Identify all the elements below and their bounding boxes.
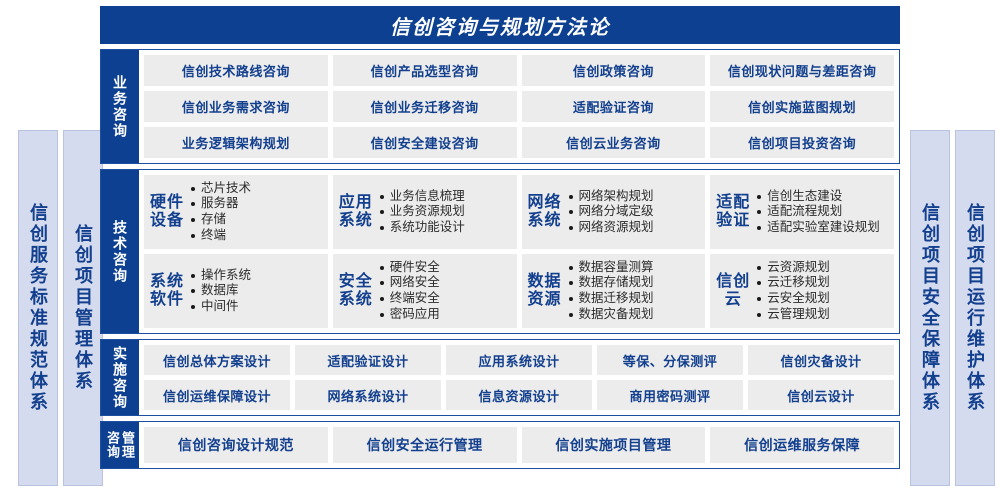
band-technical-body: 硬件设备 芯片技术 服务器 存储 终端 应用系统 业务信息梳理 业务资源规划 — [139, 170, 899, 333]
bullet-item: 业务信息梳理 — [379, 189, 511, 205]
list-item[interactable]: 信创运维保障设计 — [144, 380, 290, 410]
bullet-item: 云管理规划 — [756, 307, 888, 323]
list-item[interactable]: 信创云设计 — [748, 380, 894, 410]
list-item[interactable]: 信创项目投资咨询 — [710, 127, 894, 158]
pillar-service-standard-label: 信创服务标准规范体系 — [29, 203, 47, 413]
table-row: 业务逻辑架构规划 信创安全建设咨询 信创云业务咨询 信创项目投资咨询 — [144, 127, 894, 158]
list-item[interactable]: 商用密码测评 — [597, 380, 743, 410]
list-item[interactable]: 适配验证设计 — [295, 345, 441, 375]
list-item[interactable]: 数据资源 数据容量测算 数据存储规划 数据迁移规划 数据灾备规划 — [522, 254, 706, 328]
list-item[interactable]: 信创灾备设计 — [748, 345, 894, 375]
group-list: 数据容量测算 数据存储规划 数据迁移规划 数据灾备规划 — [568, 260, 700, 323]
list-item[interactable]: 信创业务需求咨询 — [144, 91, 328, 122]
table-row: 信创总体方案设计 适配验证设计 应用系统设计 等保、分保测评 信创灾备设计 — [144, 345, 894, 375]
bullet-item: 数据灾备规划 — [568, 307, 700, 323]
group-list: 硬件安全 网络安全 终端安全 密码应用 — [379, 260, 511, 323]
group-list: 信创生态建设 适配流程规划 适配实验室建设规划 — [756, 189, 888, 236]
bullet-item: 业务资源规划 — [379, 204, 511, 220]
bullet-item: 数据库 — [190, 283, 322, 299]
list-item[interactable]: 网络系统 网络架构规划 网络分域定级 网络资源规划 — [522, 175, 706, 249]
list-item[interactable]: 信创运维服务保障 — [710, 427, 894, 463]
banner: 信创咨询与规划方法论 — [100, 6, 900, 44]
table-row: 信创技术路线咨询 信创产品选型咨询 信创政策咨询 信创现状问题与差距咨询 — [144, 55, 894, 86]
group-list: 网络架构规划 网络分域定级 网络资源规划 — [568, 189, 700, 236]
list-item[interactable]: 信创云 云资源规划 云迁移规划 云安全规划 云管理规划 — [710, 254, 894, 328]
list-item[interactable]: 信息资源设计 — [446, 380, 592, 410]
list-item[interactable]: 信创安全建设咨询 — [333, 127, 517, 158]
bullet-item: 云资源规划 — [756, 260, 888, 276]
band-consulting-management-body: 信创咨询设计规范 信创安全运行管理 信创实施项目管理 信创运维服务保障 — [139, 422, 899, 468]
band-technical-label-text: 技术咨询 — [113, 220, 127, 284]
band-business-label-text: 业务咨询 — [113, 75, 127, 139]
table-row: 硬件设备 芯片技术 服务器 存储 终端 应用系统 业务信息梳理 业务资源规划 — [144, 175, 894, 249]
bullet-item: 操作系统 — [190, 268, 322, 284]
band-implementation-label-text: 实施咨询 — [113, 346, 127, 410]
band-consulting-management-label-col-a: 咨询 — [106, 431, 119, 459]
list-item[interactable]: 适配验证咨询 — [522, 91, 706, 122]
bullet-item: 终端 — [190, 228, 322, 244]
group-title: 适配验证 — [716, 194, 750, 230]
bullet-item: 密码应用 — [379, 307, 511, 323]
pillar-project-security-label: 信创项目安全保障体系 — [921, 203, 939, 413]
band-implementation-label: 实施咨询 — [101, 340, 139, 415]
group-list: 操作系统 数据库 中间件 — [190, 268, 322, 315]
band-business: 业务咨询 信创技术路线咨询 信创产品选型咨询 信创政策咨询 信创现状问题与差距咨… — [100, 49, 900, 164]
table-row: 信创咨询设计规范 信创安全运行管理 信创实施项目管理 信创运维服务保障 — [144, 427, 894, 463]
list-item[interactable]: 安全系统 硬件安全 网络安全 终端安全 密码应用 — [333, 254, 517, 328]
bullet-item: 网络安全 — [379, 275, 511, 291]
pillar-project-security: 信创项目安全保障体系 — [910, 130, 950, 486]
group-title: 网络系统 — [528, 194, 562, 230]
list-item[interactable]: 信创技术路线咨询 — [144, 55, 328, 86]
pillar-project-management: 信创项目管理体系 — [63, 130, 103, 486]
list-item[interactable]: 网络系统设计 — [295, 380, 441, 410]
bullet-item: 终端安全 — [379, 291, 511, 307]
list-item[interactable]: 信创总体方案设计 — [144, 345, 290, 375]
list-item[interactable]: 适配验证 信创生态建设 适配流程规划 适配实验室建设规划 — [710, 175, 894, 249]
list-item[interactable]: 应用系统设计 — [446, 345, 592, 375]
bullet-item: 服务器 — [190, 196, 322, 212]
list-item[interactable]: 信创业务迁移咨询 — [333, 91, 517, 122]
bullet-item: 适配流程规划 — [756, 204, 888, 220]
pillar-project-ops: 信创项目运行维护体系 — [955, 130, 995, 486]
bullet-item: 数据迁移规划 — [568, 291, 700, 307]
page-title: 信创咨询与规划方法论 — [390, 11, 610, 40]
methodology-board: 信创咨询与规划方法论 业务咨询 信创技术路线咨询 信创产品选型咨询 信创政策咨询… — [100, 6, 900, 490]
list-item[interactable]: 系统软件 操作系统 数据库 中间件 — [144, 254, 328, 328]
bullet-item: 数据容量测算 — [568, 260, 700, 276]
group-list: 业务信息梳理 业务资源规划 系统功能设计 — [379, 189, 511, 236]
bullet-item: 网络分域定级 — [568, 204, 700, 220]
group-title: 数据资源 — [528, 273, 562, 309]
group-title: 硬件设备 — [150, 194, 184, 230]
list-item[interactable]: 硬件设备 芯片技术 服务器 存储 终端 — [144, 175, 328, 249]
band-business-label: 业务咨询 — [101, 50, 139, 163]
diagram-canvas: 信创服务标准规范体系 信创项目管理体系 信创项目安全保障体系 信创项目运行维护体… — [0, 0, 1000, 496]
group-title: 信创云 — [716, 273, 750, 309]
bullet-item: 芯片技术 — [190, 181, 322, 197]
bullet-item: 信创生态建设 — [756, 189, 888, 205]
list-item[interactable]: 应用系统 业务信息梳理 业务资源规划 系统功能设计 — [333, 175, 517, 249]
group-title: 系统软件 — [150, 273, 184, 309]
bullet-item: 中间件 — [190, 299, 322, 315]
band-technical: 技术咨询 硬件设备 芯片技术 服务器 存储 终端 应用系统 — [100, 169, 900, 334]
bullet-item: 系统功能设计 — [379, 220, 511, 236]
band-implementation-body: 信创总体方案设计 适配验证设计 应用系统设计 等保、分保测评 信创灾备设计 信创… — [139, 340, 899, 415]
list-item[interactable]: 信创产品选型咨询 — [333, 55, 517, 86]
bullet-item: 网络资源规划 — [568, 220, 700, 236]
list-item[interactable]: 信创政策咨询 — [522, 55, 706, 86]
band-consulting-management: 管理 咨询 信创咨询设计规范 信创安全运行管理 信创实施项目管理 信创运维服务保… — [100, 421, 900, 469]
list-item[interactable]: 信创咨询设计规范 — [144, 427, 328, 463]
bullet-item: 云安全规划 — [756, 291, 888, 307]
pillar-service-standard: 信创服务标准规范体系 — [18, 130, 58, 486]
band-business-body: 信创技术路线咨询 信创产品选型咨询 信创政策咨询 信创现状问题与差距咨询 信创业… — [139, 50, 899, 163]
bullet-item: 适配实验室建设规划 — [756, 220, 888, 236]
band-consulting-management-label: 管理 咨询 — [101, 422, 139, 468]
bullet-item: 网络架构规划 — [568, 189, 700, 205]
list-item[interactable]: 信创实施项目管理 — [522, 427, 706, 463]
list-item[interactable]: 业务逻辑架构规划 — [144, 127, 328, 158]
pillar-project-ops-label: 信创项目运行维护体系 — [966, 203, 984, 413]
table-row: 信创业务需求咨询 信创业务迁移咨询 适配验证咨询 信创实施蓝图规划 — [144, 91, 894, 122]
table-row: 信创运维保障设计 网络系统设计 信息资源设计 商用密码测评 信创云设计 — [144, 380, 894, 410]
table-row: 系统软件 操作系统 数据库 中间件 安全系统 硬件安全 网络安全 终端安全 — [144, 254, 894, 328]
list-item[interactable]: 等保、分保测评 — [597, 345, 743, 375]
list-item[interactable]: 信创安全运行管理 — [333, 427, 517, 463]
bullet-item: 硬件安全 — [379, 260, 511, 276]
group-title: 应用系统 — [339, 194, 373, 230]
bullet-item: 云迁移规划 — [756, 275, 888, 291]
band-consulting-management-label-col-b: 管理 — [121, 431, 134, 459]
list-item[interactable]: 信创现状问题与差距咨询 — [710, 55, 894, 86]
bullet-item: 数据存储规划 — [568, 275, 700, 291]
band-implementation: 实施咨询 信创总体方案设计 适配验证设计 应用系统设计 等保、分保测评 信创灾备… — [100, 339, 900, 416]
group-title: 安全系统 — [339, 273, 373, 309]
pillar-project-management-label: 信创项目管理体系 — [74, 224, 92, 392]
bullet-item: 存储 — [190, 212, 322, 228]
group-list: 云资源规划 云迁移规划 云安全规划 云管理规划 — [756, 260, 888, 323]
list-item[interactable]: 信创云业务咨询 — [522, 127, 706, 158]
group-list: 芯片技术 服务器 存储 终端 — [190, 181, 322, 244]
list-item[interactable]: 信创实施蓝图规划 — [710, 91, 894, 122]
band-technical-label: 技术咨询 — [101, 170, 139, 333]
